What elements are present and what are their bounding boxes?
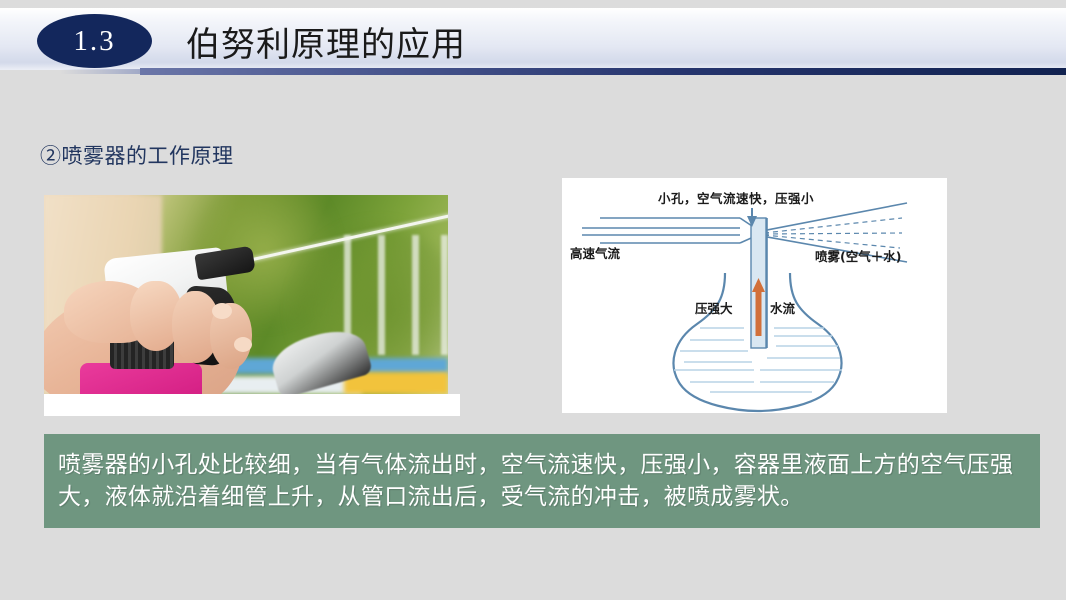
spray-bottle-photo: [44, 195, 448, 394]
bullet-heading: ②喷雾器的工作原理: [40, 140, 234, 170]
explanation-text: 喷雾器的小孔处比较细，当有气体流出时，空气流速快，压强小，容器里液面上方的空气压…: [44, 449, 1040, 512]
diagram-label-high-pressure: 压强大: [695, 298, 733, 317]
diagram-label-high-speed-airflow: 高速气流: [570, 243, 620, 262]
sprayer-principle-diagram: 小孔，空气流速快，压强小 高速气流 喷雾(空气＋水) 压强大 水流: [562, 178, 947, 413]
explanation-callout: 喷雾器的小孔处比较细，当有气体流出时，空气流速快，压强小，容器里液面上方的空气压…: [44, 434, 1040, 528]
diagram-label-water-flow: 水流: [770, 298, 795, 317]
section-number-label: 1.3: [73, 25, 115, 58]
spray-dash-2: [764, 233, 902, 234]
spray-dash-1: [764, 218, 902, 233]
photo-nail-2: [234, 337, 252, 352]
header-gradient-band: [0, 8, 1066, 70]
diagram-drawing: [562, 178, 947, 413]
diagram-label-spray-mist: 喷雾(空气＋水): [815, 246, 901, 265]
header-rule: [140, 68, 1066, 75]
slide: 1.3 伯努利原理的应用 ②喷雾器的工作原理: [0, 0, 1066, 600]
header-rule-fade: [60, 69, 150, 74]
photo-spray-jet: [230, 217, 448, 269]
slide-header: 1.3 伯努利原理的应用: [0, 0, 1066, 88]
diagram-label-small-hole: 小孔，空气流速快，压强小: [658, 188, 814, 207]
photo-nail-1: [212, 303, 232, 319]
spray-edge-top: [762, 203, 907, 231]
section-number-badge: 1.3: [37, 14, 152, 68]
page-title: 伯努利原理的应用: [186, 14, 466, 68]
photo-white-caption-strip: [44, 394, 460, 416]
